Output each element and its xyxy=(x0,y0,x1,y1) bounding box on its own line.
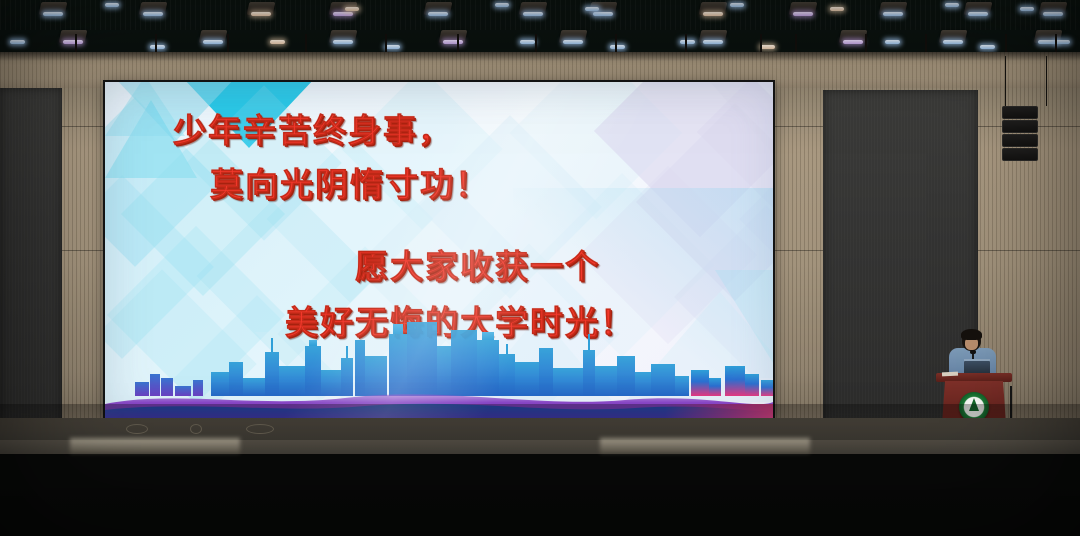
audience-crowd xyxy=(0,404,1080,536)
light-lens-icon xyxy=(830,7,844,11)
city-skyline-graphic xyxy=(105,308,773,418)
speaker-suspension-wire xyxy=(1005,56,1006,106)
light-lens-icon xyxy=(1043,12,1063,16)
building-cap xyxy=(309,340,318,346)
skyline-building xyxy=(150,374,160,396)
light-lens-icon xyxy=(885,40,900,44)
skyline-building xyxy=(635,372,651,396)
skyline-building xyxy=(193,380,203,396)
skyline-building xyxy=(761,380,773,396)
light-lens-icon xyxy=(1020,7,1034,11)
skyline-building xyxy=(437,346,451,396)
skyline-building xyxy=(135,382,149,396)
light-lens-icon xyxy=(703,12,723,16)
light-lens-icon xyxy=(333,40,353,44)
skyline-building xyxy=(161,378,173,396)
skyline-building xyxy=(745,374,759,396)
skyline-building xyxy=(515,362,539,396)
light-lens-icon xyxy=(150,45,165,49)
light-lens-icon xyxy=(610,45,625,49)
skyline-building xyxy=(229,362,243,396)
skyline-building xyxy=(389,334,407,396)
light-lens-icon xyxy=(585,7,599,11)
light-lens-icon xyxy=(333,12,353,16)
light-lens-icon xyxy=(563,40,583,44)
skyline-building xyxy=(305,346,321,396)
speaker-module xyxy=(1002,120,1038,133)
light-lens-icon xyxy=(523,12,543,16)
light-lens-icon xyxy=(1055,40,1070,44)
light-lens-icon xyxy=(203,40,223,44)
skyline-building xyxy=(175,386,191,396)
light-lens-icon xyxy=(443,40,463,44)
light-lens-icon xyxy=(105,3,119,7)
skyline-building xyxy=(691,370,709,396)
skyline-building xyxy=(709,378,721,396)
slide-line-2: 莫向光阴惰寸功！ xyxy=(210,158,490,206)
skyline-building xyxy=(243,378,265,396)
audience-shading xyxy=(0,404,1080,536)
left-acoustic-panel xyxy=(0,88,62,426)
skyline-building xyxy=(539,348,553,396)
light-lens-icon xyxy=(520,40,535,44)
building-spire xyxy=(506,344,508,354)
skyline-building xyxy=(265,352,279,396)
skyline-building xyxy=(321,370,341,396)
light-lens-icon xyxy=(793,12,813,16)
speaker-hair xyxy=(961,329,982,340)
speaker-module xyxy=(1002,106,1038,119)
papers xyxy=(942,372,958,377)
building-spire xyxy=(588,334,590,350)
building-cap xyxy=(393,324,403,334)
light-lens-icon xyxy=(945,3,959,7)
light-lens-icon xyxy=(760,45,775,49)
light-lens-icon xyxy=(428,12,448,16)
light-lens-icon xyxy=(345,7,359,11)
speaker-suspension-wire xyxy=(1046,56,1047,106)
skyline-building xyxy=(675,376,689,396)
light-lens-icon xyxy=(270,40,285,44)
skyline-building xyxy=(725,366,745,396)
light-lens-icon xyxy=(843,40,863,44)
led-display-screen[interactable]: 少年辛苦终身事， 莫向光阴惰寸功！ 愿大家收获一个 美好无悔的大学时光！ xyxy=(105,82,773,418)
light-lens-icon xyxy=(251,12,271,16)
skyline-building xyxy=(553,368,583,396)
skyline-building xyxy=(595,366,617,396)
skyline-building xyxy=(407,322,437,396)
light-lens-icon xyxy=(143,12,163,16)
skyline-building xyxy=(583,350,595,396)
skyline-building xyxy=(617,356,635,396)
light-lens-icon xyxy=(680,40,695,44)
auditorium-scene: 少年辛苦终身事， 莫向光阴惰寸功！ 愿大家收获一个 美好无悔的大学时光！ xyxy=(0,0,1080,536)
slide-line-1: 少年辛苦终身事， xyxy=(173,104,453,152)
skyline-building xyxy=(365,356,387,396)
slide-line-3: 愿大家收获一个 xyxy=(355,240,600,288)
light-lens-icon xyxy=(63,40,83,44)
light-lens-icon xyxy=(593,12,613,16)
speaker-module xyxy=(1002,148,1038,161)
building-cap xyxy=(482,332,494,340)
skyline-building xyxy=(341,358,353,396)
skyline-building xyxy=(279,366,305,396)
line-array-speaker xyxy=(1002,106,1038,162)
building-spire xyxy=(271,338,273,352)
light-lens-icon xyxy=(495,3,509,7)
light-lens-icon xyxy=(943,40,963,44)
light-lens-icon xyxy=(43,12,63,16)
building-spire xyxy=(346,346,348,358)
light-lens-icon xyxy=(385,45,400,49)
light-lens-icon xyxy=(10,40,25,44)
skyline-building xyxy=(211,372,229,396)
light-lens-icon xyxy=(883,12,903,16)
skyline-building xyxy=(477,340,499,396)
light-lens-icon xyxy=(980,45,995,49)
skyline-building xyxy=(451,330,477,396)
microphone-icon xyxy=(970,350,976,354)
light-lens-icon xyxy=(730,3,744,7)
wall-shadow xyxy=(0,52,1080,61)
skyline-building xyxy=(499,354,515,396)
light-lens-icon xyxy=(703,40,723,44)
speaker-module xyxy=(1002,134,1038,147)
skyline-building xyxy=(651,364,675,396)
light-lens-icon xyxy=(968,12,988,16)
skyline-building xyxy=(355,340,365,396)
